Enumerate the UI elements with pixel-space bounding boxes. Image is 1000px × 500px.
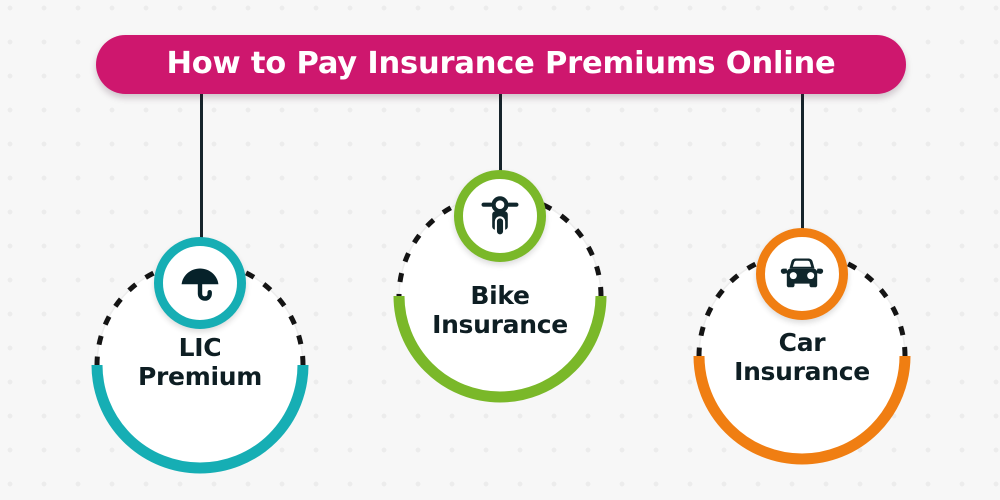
node-car-insurance[interactable]: Car Insurance <box>692 246 912 466</box>
badge-car[interactable] <box>756 228 848 320</box>
badge-lic[interactable] <box>154 237 246 329</box>
connector-line-car <box>801 92 804 229</box>
node-bike-insurance[interactable]: Bike Insurance <box>392 188 608 404</box>
connector-line-bike <box>499 92 502 172</box>
connector-line-lic <box>200 92 203 239</box>
badge-bike[interactable] <box>454 170 546 262</box>
car-icon <box>778 250 826 298</box>
page-title-banner: How to Pay Insurance Premiums Online <box>96 35 906 94</box>
node-lic-premium[interactable]: LIC Premium <box>90 255 310 475</box>
umbrella-icon <box>178 261 222 305</box>
scooter-icon <box>477 193 523 239</box>
page-title: How to Pay Insurance Premiums Online <box>166 49 835 80</box>
infographic-canvas: How to Pay Insurance Premiums Online LIC… <box>0 0 1000 500</box>
